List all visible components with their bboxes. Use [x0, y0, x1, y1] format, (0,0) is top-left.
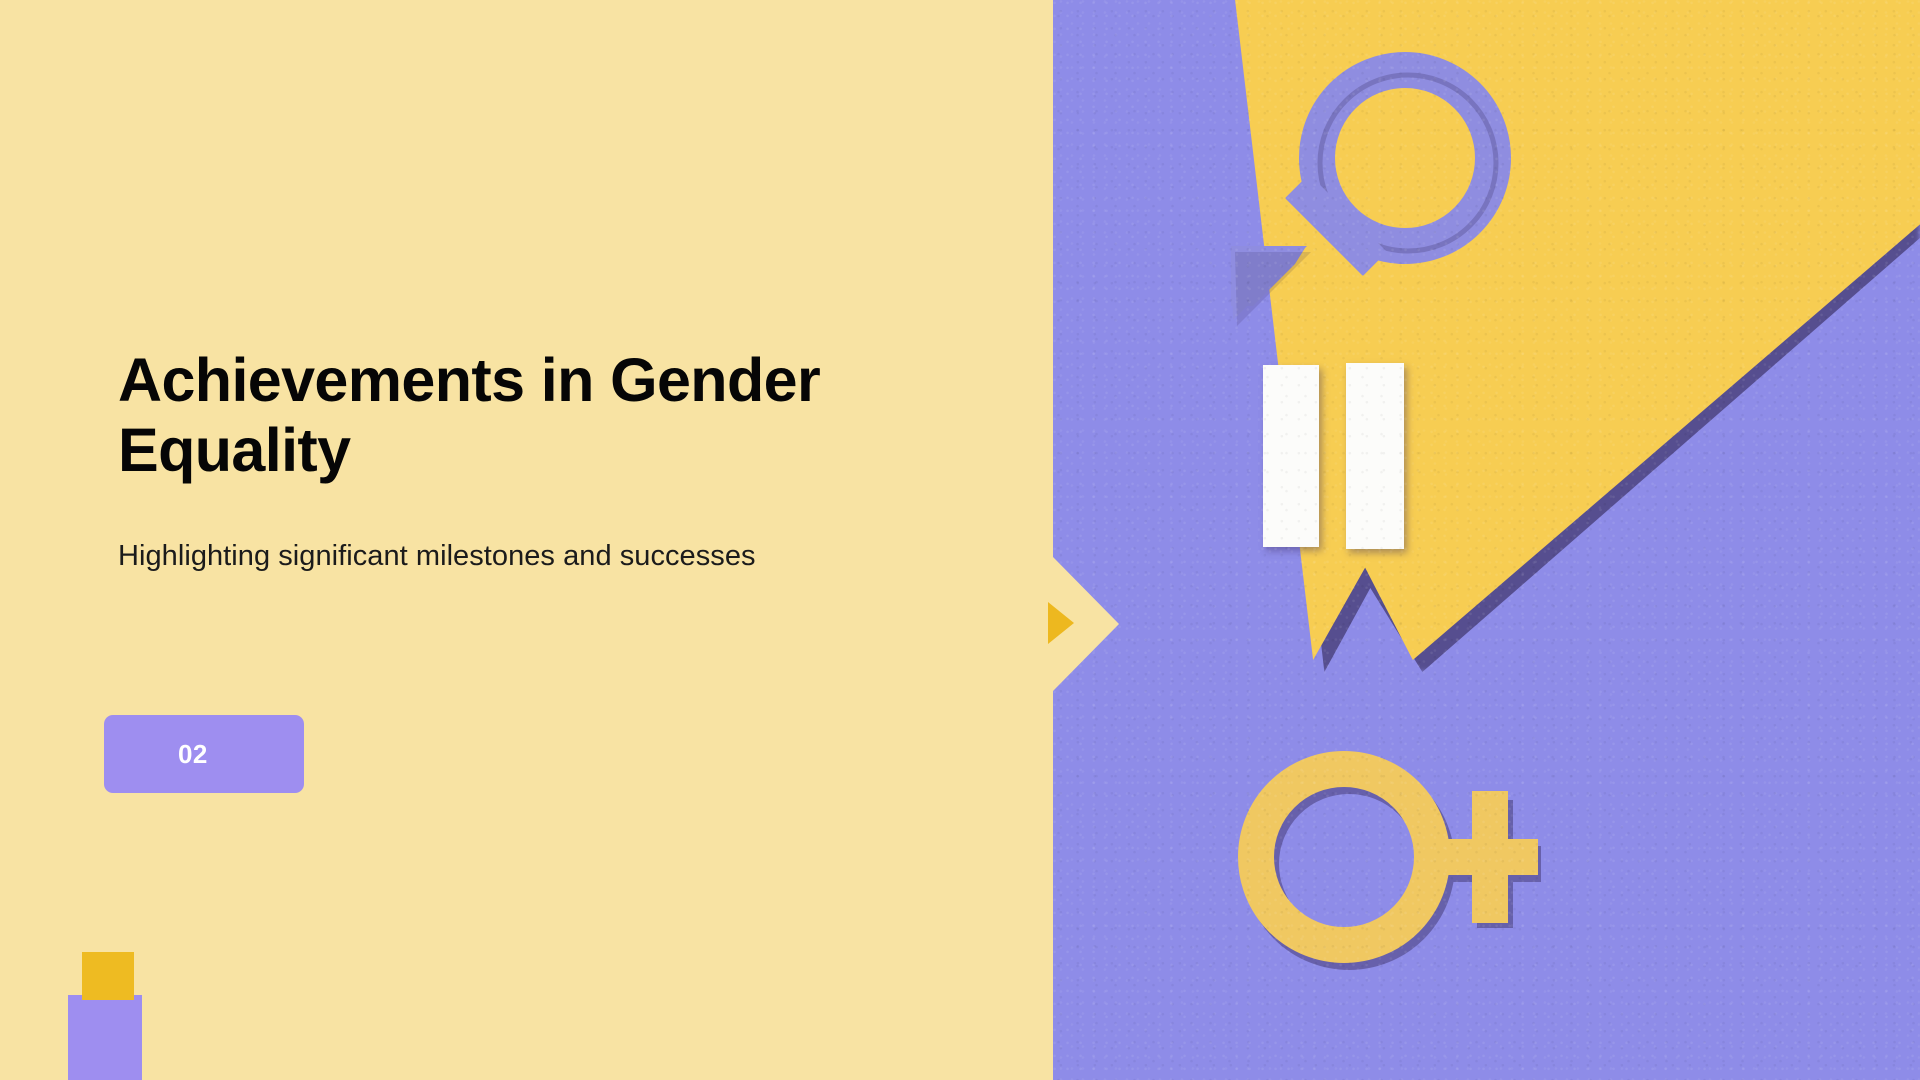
gender-equality-photo	[1053, 0, 1920, 1080]
slide-number-badge[interactable]: 02	[104, 715, 304, 793]
male-gender-symbol-icon	[1205, 52, 1535, 342]
slide-canvas: Achievements in Gender Equality Highligh…	[0, 0, 1920, 1080]
page-title: Achievements in Gender Equality	[118, 345, 988, 485]
female-gender-symbol-icon	[1228, 735, 1568, 985]
equals-sign-bar-left	[1263, 365, 1319, 547]
page-subtitle: Highlighting significant milestones and …	[118, 533, 818, 580]
decorative-square-purple	[68, 995, 142, 1080]
equals-sign-bar-right	[1346, 363, 1404, 549]
left-content-panel: Achievements in Gender Equality Highligh…	[0, 0, 1053, 1080]
slide-number-label: 02	[178, 739, 208, 770]
slide-text-block: Achievements in Gender Equality Highligh…	[118, 345, 998, 581]
decorative-square-gold	[82, 952, 134, 1000]
